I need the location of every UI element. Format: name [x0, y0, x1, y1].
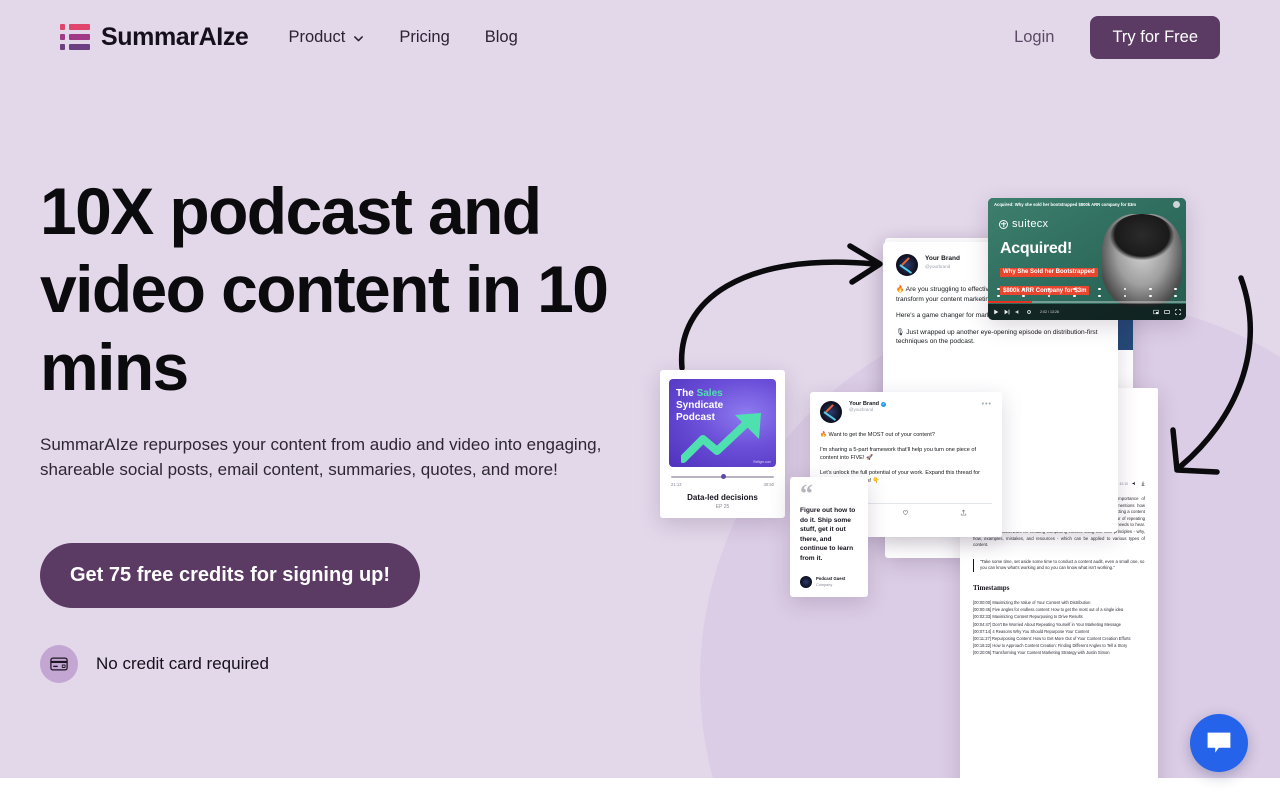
video-title: Acquired: Why she sold her bootstrapped …: [994, 202, 1136, 207]
share-icon[interactable]: [960, 509, 967, 516]
get-free-credits-button[interactable]: Get 75 free credits for signing up!: [40, 543, 420, 608]
social-post-handle: @yourbrand: [849, 407, 886, 412]
hero-collage: Your Brand Hey [Recipient], Are you tire…: [640, 170, 1280, 710]
quote-company: Company: [816, 582, 845, 588]
timestamp-item: [00:00:46] Five angles for endless conte…: [973, 606, 1145, 613]
video-controls: 2:02 / 13:26: [988, 304, 1186, 320]
video-headline: Acquired!: [1000, 240, 1072, 258]
audio-scrubber[interactable]: [669, 475, 776, 479]
video-channel-row: suitecx: [999, 218, 1048, 230]
video-subheadline: Why She Sold her Bootstrapped $800k ARR …: [1000, 260, 1098, 297]
video-channel-name: suitecx: [1012, 218, 1048, 230]
no-credit-card-label: No credit card required: [96, 654, 269, 674]
verified-badge-icon: [881, 402, 886, 407]
video-time: 2:02 / 13:26: [1040, 310, 1059, 314]
quote-mark-icon: “: [800, 486, 858, 502]
transcript-pull-quote: "Take some time, set aside some time to …: [973, 559, 1145, 572]
volume-icon[interactable]: [1132, 481, 1137, 486]
transcript-time: 42:10: [1120, 482, 1129, 486]
video-topbar: Acquired: Why she sold her bootstrapped …: [988, 198, 1186, 210]
volume-icon[interactable]: [1015, 309, 1021, 315]
video-channel-avatar[interactable]: [1173, 201, 1180, 208]
timestamps-list: [00:00:00] Maximizing the Value of Your …: [973, 599, 1145, 657]
growth-arrow-icon: [681, 411, 769, 463]
brand-name: SummarAIze: [101, 23, 248, 52]
timestamp-item: [00:00:00] Maximizing the Value of Your …: [973, 599, 1145, 606]
audio-total-time: 38:50: [764, 482, 774, 487]
video-right-controls: [1153, 309, 1181, 315]
audio-episode-number: EP 25: [669, 504, 776, 510]
quote-text: Figure out how to do it. Ship some stuff…: [800, 506, 858, 564]
social-post-paragraph: I'm sharing a 5-part framework that'll h…: [820, 446, 992, 463]
chat-widget-button[interactable]: [1190, 714, 1248, 772]
logo-mark-icon: [60, 24, 90, 50]
settings-icon[interactable]: [1026, 309, 1032, 315]
timestamp-item: [00:07:14] 4 Reasons Why You Should Repu…: [973, 628, 1145, 635]
suitecx-logo-icon: [999, 220, 1008, 229]
video-person-image: [1102, 214, 1182, 306]
audio-scrubber-handle[interactable]: [721, 474, 726, 479]
audio-player-card[interactable]: The Sales Syndicate Podcast Refliger.com…: [660, 370, 785, 518]
timestamps-heading: Timestamps: [973, 584, 1145, 592]
more-horizontal-icon[interactable]: •••: [982, 401, 992, 408]
hero-content: 10X podcast and video content in 10 mins…: [40, 172, 660, 683]
chat-bubble-icon: [1206, 731, 1232, 755]
audio-times: 21:13 38:50: [669, 482, 776, 487]
download-icon[interactable]: [1141, 481, 1145, 486]
cover-word-syndicate: Syndicate: [676, 400, 723, 411]
nav-item-product[interactable]: Product: [288, 28, 364, 47]
video-decor-dots: [997, 288, 1177, 291]
timestamp-item: [00:20:06] Transforming Your Content Mar…: [973, 649, 1145, 656]
social-post-header: Your Brand @yourbrand •••: [820, 401, 992, 423]
nav-item-product-label: Product: [288, 28, 345, 47]
video-decor-dots: [997, 295, 1177, 298]
play-icon[interactable]: [993, 309, 999, 315]
social-post-author: Your Brand: [925, 254, 960, 263]
page-title: 10X podcast and video content in 10 mins: [40, 172, 660, 406]
login-link[interactable]: Login: [1014, 28, 1054, 47]
podcast-cover-art: The Sales Syndicate Podcast Refliger.com: [669, 379, 776, 467]
brand-logo[interactable]: SummarAIze: [60, 23, 248, 52]
quote-attribution: Podcast Guest Company: [800, 576, 845, 588]
audio-episode-title: Data-led decisions: [669, 493, 776, 502]
social-post-paragraph: 🎙 Just wrapped up another eye-opening ep…: [896, 328, 1105, 347]
audio-current-time: 21:13: [671, 482, 681, 487]
nav-links: Product Pricing Blog: [288, 28, 517, 47]
timestamp-item: [00:04:47] Don't Be Worried About Repeat…: [973, 621, 1145, 628]
curved-arrow-right-icon: [674, 240, 904, 370]
landing-page: SummarAIze Product Pricing Blog Login Tr…: [0, 0, 1280, 800]
timestamp-item: [00:02:33] Maximizing Content Repurposin…: [973, 613, 1145, 620]
video-subheadline-line1: Why She Sold her Bootstrapped: [1000, 268, 1098, 277]
nav-item-blog-label: Blog: [485, 28, 518, 47]
nav-item-blog[interactable]: Blog: [485, 28, 518, 47]
try-for-free-button[interactable]: Try for Free: [1090, 16, 1220, 59]
avatar: [896, 254, 918, 276]
timestamp-item: [00:16:22] How to Approach Content Creat…: [973, 642, 1145, 649]
video-player-card[interactable]: Acquired: Why she sold her bootstrapped …: [988, 198, 1186, 320]
top-navigation: SummarAIze Product Pricing Blog Login Tr…: [0, 0, 1280, 74]
no-credit-card-note: No credit card required: [40, 645, 660, 683]
avatar: [820, 401, 842, 423]
miniplayer-icon[interactable]: [1153, 309, 1159, 315]
nav-item-pricing-label: Pricing: [399, 28, 449, 47]
fullscreen-icon[interactable]: [1175, 309, 1181, 315]
chevron-down-icon: [353, 33, 364, 44]
quote-card[interactable]: “ Figure out how to do it. Ship some stu…: [790, 477, 868, 597]
credit-card-icon: [40, 645, 78, 683]
nav-actions: Login Try for Free: [1014, 16, 1220, 59]
social-post-handle: @yourbrand: [925, 263, 960, 270]
cover-badge: Refliger.com: [753, 460, 771, 464]
nav-item-pricing[interactable]: Pricing: [399, 28, 449, 47]
theater-icon[interactable]: [1164, 309, 1170, 315]
next-icon[interactable]: [1004, 309, 1010, 315]
social-post-paragraph: 🔥 Want to get the MOST out of your conte…: [820, 431, 992, 440]
cover-word-the: The: [676, 388, 697, 399]
hero-subtitle: SummarAIze repurposes your content from …: [40, 432, 620, 482]
avatar: [800, 576, 812, 588]
like-icon[interactable]: [902, 509, 909, 516]
video-progress-bar[interactable]: [988, 301, 1186, 303]
cover-word-sales: Sales: [697, 388, 723, 399]
timestamp-item: [00:11:27] Repurposing Content: How to G…: [973, 635, 1145, 642]
